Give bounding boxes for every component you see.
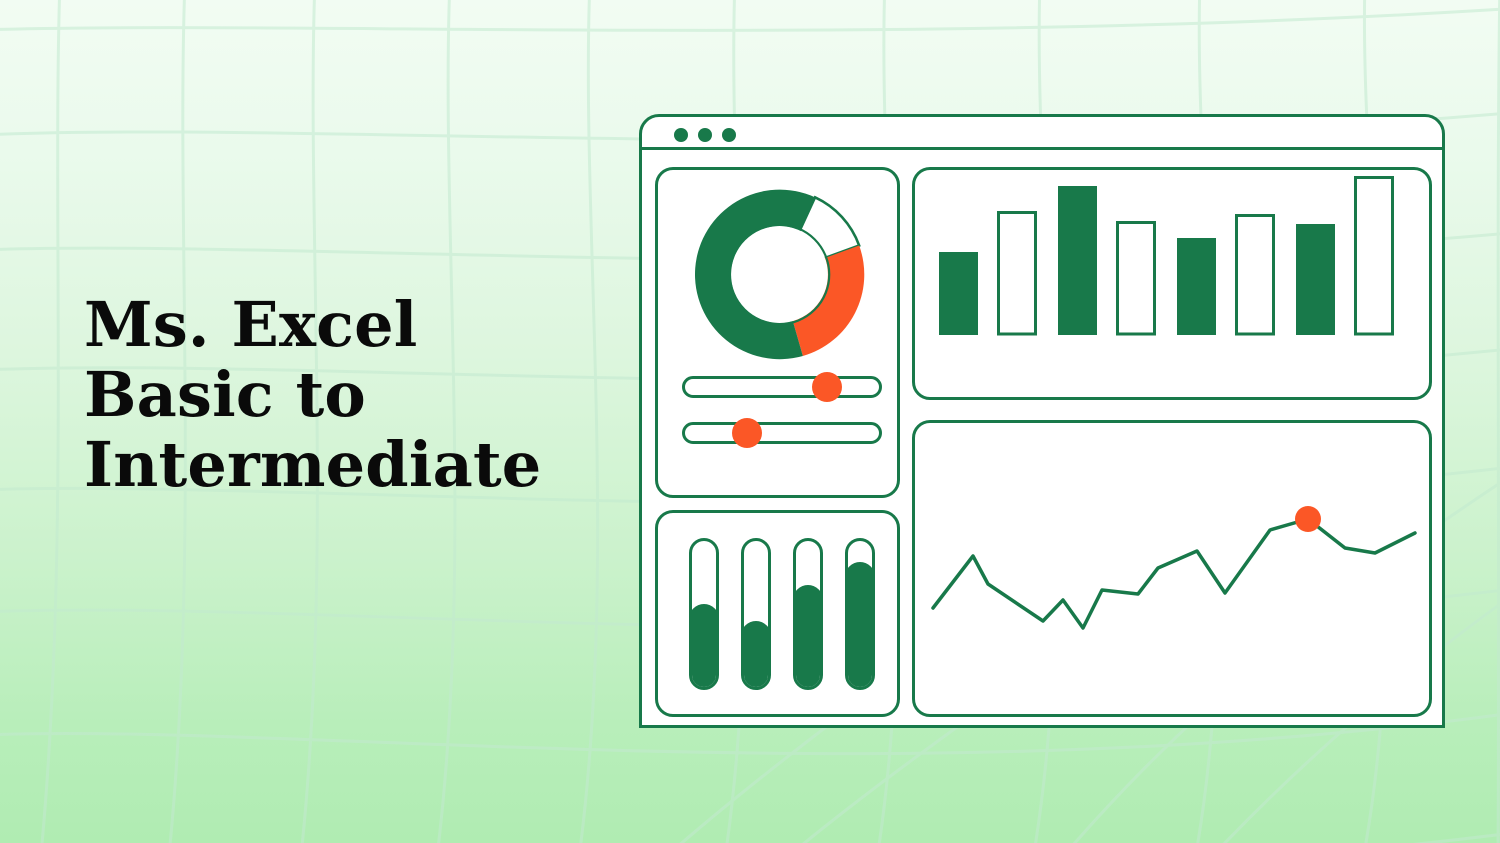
page-title-line-1: Ms. Excel bbox=[84, 290, 624, 360]
slider-handle-2[interactable] bbox=[732, 418, 762, 448]
gauge-4[interactable] bbox=[845, 538, 875, 690]
gauge-1-fill bbox=[689, 604, 719, 690]
page-title-line-2: Basic to bbox=[84, 360, 624, 430]
donut-chart[interactable] bbox=[693, 188, 866, 361]
bar-chart[interactable] bbox=[915, 170, 1429, 397]
bar-8[interactable] bbox=[1356, 178, 1393, 335]
bar-2[interactable] bbox=[999, 213, 1036, 335]
bars-panel bbox=[912, 167, 1432, 400]
page-title: Ms. Excel Basic to Intermediate bbox=[84, 290, 624, 500]
gauge-2[interactable] bbox=[741, 538, 771, 690]
bar-6[interactable] bbox=[1237, 216, 1274, 335]
donut-chart-svg bbox=[693, 188, 866, 361]
bar-1[interactable] bbox=[939, 252, 978, 335]
gauge-4-fill bbox=[845, 562, 875, 690]
gauge-1[interactable] bbox=[689, 538, 719, 690]
dashboard-window bbox=[639, 114, 1445, 728]
bar-3[interactable] bbox=[1058, 186, 1097, 335]
gauge-2-fill bbox=[741, 621, 771, 690]
window-dot-1-icon[interactable] bbox=[674, 128, 688, 142]
donut-hole bbox=[731, 226, 828, 323]
gauges-panel bbox=[655, 510, 900, 717]
bar-5[interactable] bbox=[1177, 238, 1216, 335]
slide-canvas: Ms. Excel Basic to Intermediate bbox=[0, 0, 1500, 843]
bar-7[interactable] bbox=[1296, 224, 1335, 335]
window-dot-3-icon[interactable] bbox=[722, 128, 736, 142]
line-chart-path bbox=[933, 519, 1415, 628]
slider-track-1[interactable] bbox=[682, 376, 882, 398]
bar-4[interactable] bbox=[1118, 223, 1155, 335]
line-panel bbox=[912, 420, 1432, 717]
gauge-3-fill bbox=[793, 585, 823, 690]
window-dot-2-icon[interactable] bbox=[698, 128, 712, 142]
window-titlebar bbox=[642, 117, 1442, 150]
slider-handle-1[interactable] bbox=[812, 372, 842, 402]
bar-chart-bars bbox=[939, 178, 1393, 336]
line-chart-highlight-point[interactable] bbox=[1295, 506, 1321, 532]
line-chart[interactable] bbox=[915, 423, 1429, 714]
slider-track-2[interactable] bbox=[682, 422, 882, 444]
donut-panel bbox=[655, 167, 900, 498]
gauge-3[interactable] bbox=[793, 538, 823, 690]
page-title-line-3: Intermediate bbox=[84, 430, 624, 500]
